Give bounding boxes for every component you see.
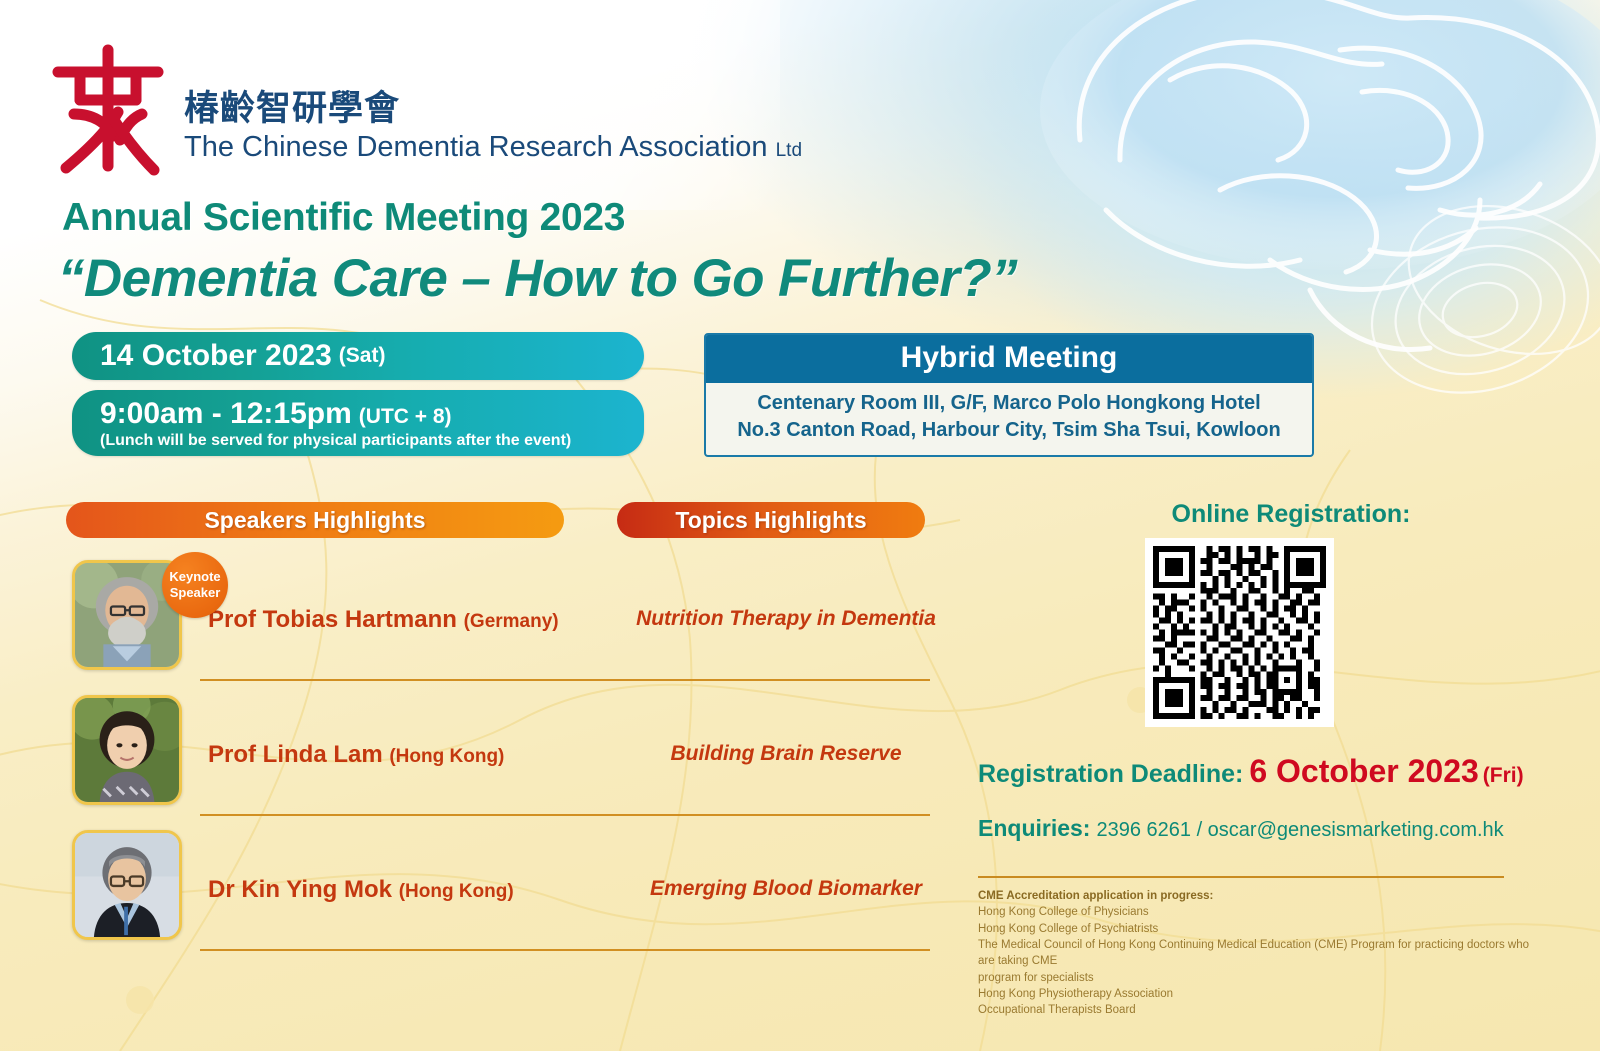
cme-heading: CME Accreditation application in progres…	[978, 888, 1538, 904]
row-divider	[200, 814, 930, 816]
venue-box: Hybrid Meeting Centenary Room III, G/F, …	[704, 333, 1314, 457]
registration-qr-code[interactable]	[1145, 538, 1334, 727]
online-registration-title: Online Registration:	[1133, 500, 1449, 529]
organization-suffix: Ltd	[776, 140, 802, 161]
lunch-note: (Lunch will be served for physical parti…	[100, 432, 571, 450]
speaker-topic: Emerging Blood Biomarker	[636, 877, 936, 901]
speaker-name: Dr Kin Ying Mok (Hong Kong)	[208, 876, 514, 904]
speakers-list: Keynote Speaker Prof Tobias Hartmann (Ge…	[0, 548, 960, 953]
row-divider	[200, 949, 930, 951]
topics-section-heading: Topics Highlights	[617, 502, 925, 538]
cme-line: Hong Kong Physiotherapy Association	[978, 986, 1538, 1002]
speakers-section-heading: Speakers Highlights	[66, 502, 564, 538]
poster-root: 椿齡智研學會 The Chinese Dementia Research Ass…	[0, 0, 1600, 1051]
keynote-speaker-badge: Keynote Speaker	[162, 552, 228, 618]
organization-logo-block: 椿齡智研學會 The Chinese Dementia Research Ass…	[44, 42, 802, 178]
event-time: 9:00am - 12:15pm	[100, 397, 352, 431]
venue-address-line1: Centenary Room III, G/F, Marco Polo Hong…	[706, 390, 1312, 417]
organization-name-cn: 椿齡智研學會	[184, 90, 802, 129]
meeting-label: Annual Scientific Meeting 2023	[62, 196, 625, 240]
list-item: Dr Kin Ying Mok (Hong Kong) Emerging Blo…	[0, 818, 960, 953]
organization-name-block: 椿齡智研學會 The Chinese Dementia Research Ass…	[184, 42, 802, 165]
speaker-name: Prof Tobias Hartmann (Germany)	[208, 606, 559, 634]
list-item: Prof Linda Lam (Hong Kong) Building Brai…	[0, 683, 960, 818]
cme-line: Hong Kong College of Physicians	[978, 904, 1538, 920]
qr-code-icon[interactable]	[1153, 546, 1326, 719]
time-pill: 9:00am - 12:15pm (UTC + 8) (Lunch will b…	[72, 390, 644, 456]
cme-accreditation-block: CME Accreditation application in progres…	[978, 888, 1538, 1019]
keynote-badge-line2: Speaker	[170, 585, 221, 601]
speaker-country: (Germany)	[464, 611, 559, 632]
event-date-dow: (Sat)	[339, 344, 386, 368]
chinese-seal-logo-icon	[44, 42, 174, 178]
registration-deadline-dow: (Fri)	[1483, 764, 1524, 787]
registration-deadline-label: Registration Deadline:	[978, 760, 1243, 788]
enquiries-label: Enquiries:	[978, 815, 1090, 841]
list-item: Keynote Speaker Prof Tobias Hartmann (Ge…	[0, 548, 960, 683]
speaker-topic: Nutrition Therapy in Dementia	[636, 607, 936, 631]
portrait-prof-linda-lam-icon	[75, 698, 179, 802]
event-date: 14 October 2023	[100, 339, 332, 373]
registration-deadline: Registration Deadline:6 October 2023(Fri…	[978, 753, 1524, 790]
avatar	[72, 695, 182, 805]
footer-divider	[978, 876, 1504, 878]
avatar	[72, 830, 182, 940]
event-timezone: (UTC + 8)	[359, 405, 452, 429]
venue-heading: Hybrid Meeting	[706, 335, 1312, 383]
cme-line: Occupational Therapists Board	[978, 1002, 1538, 1018]
speaker-country: (Hong Kong)	[389, 746, 504, 767]
portrait-dr-kin-ying-mok-icon	[75, 833, 179, 937]
page-title: “Dementia Care – How to Go Further?”	[58, 248, 1017, 309]
date-pill: 14 October 2023 (Sat)	[72, 332, 644, 380]
row-divider	[200, 679, 930, 681]
keynote-badge-line1: Keynote	[169, 569, 220, 585]
enquiries-value[interactable]: 2396 6261 / oscar@genesismarketing.com.h…	[1096, 819, 1503, 841]
cme-line: The Medical Council of Hong Kong Continu…	[978, 937, 1538, 970]
enquiries: Enquiries:2396 6261 / oscar@genesismarke…	[978, 815, 1504, 842]
speaker-name: Prof Linda Lam (Hong Kong)	[208, 741, 504, 769]
cme-line: Hong Kong College of Psychiatrists	[978, 921, 1538, 937]
venue-address-line2: No.3 Canton Road, Harbour City, Tsim Sha…	[706, 417, 1312, 444]
registration-deadline-date: 6 October 2023	[1249, 753, 1478, 789]
cme-line: program for specialists	[978, 970, 1538, 986]
speaker-topic: Building Brain Reserve	[636, 742, 936, 766]
venue-address: Centenary Room III, G/F, Marco Polo Hong…	[706, 383, 1312, 444]
speaker-country: (Hong Kong)	[399, 881, 514, 902]
organization-name-en: The Chinese Dementia Research Associatio…	[184, 131, 802, 164]
